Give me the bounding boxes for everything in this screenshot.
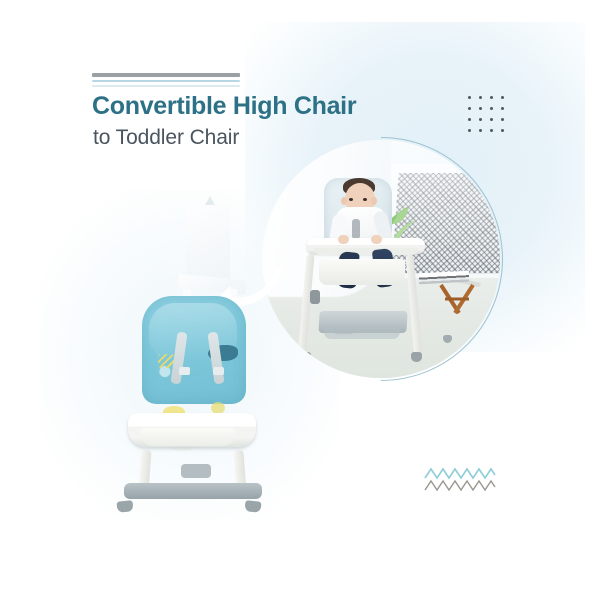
- page-subtitle: to Toddler Chair: [93, 126, 239, 150]
- grid-dot: [490, 96, 494, 100]
- high-chair-foot-cap: [411, 352, 422, 362]
- upper-zigzag-line: [425, 469, 495, 478]
- grid-dot: [479, 107, 483, 111]
- high-chair-adjust-knob: [310, 290, 320, 304]
- toddler-chair-foot-cap: [245, 500, 262, 513]
- grid-dot: [468, 96, 472, 100]
- harness-clip-right: [213, 367, 224, 375]
- mid-blue-rule: [92, 80, 240, 82]
- dot-grid: [464, 92, 508, 136]
- grid-dot: [479, 129, 483, 133]
- product-banner: Convertible High Chair to Toddler Chair: [0, 0, 600, 600]
- high-chair-lifestyle-photo: [262, 140, 500, 378]
- thick-gray-rule: [92, 73, 240, 77]
- cushion-motif-stripe: [158, 354, 174, 368]
- high-chair-tray-lip: [314, 248, 418, 255]
- high-chair-harness: [352, 219, 360, 239]
- harness-clip-left: [179, 367, 190, 375]
- zigzag-pattern: [424, 466, 496, 496]
- toddler-chair-product: [110, 292, 288, 512]
- grid-dot: [479, 96, 483, 100]
- high-chair-seat-pan: [319, 259, 405, 285]
- grid-dot: [501, 129, 505, 133]
- grid-dot: [501, 96, 505, 100]
- high-chair-footrest-bar: [324, 328, 400, 339]
- grid-dot: [501, 118, 505, 122]
- page-title: Convertible High Chair: [92, 92, 356, 121]
- thin-pale-rule: [92, 85, 240, 87]
- grid-dot: [490, 107, 494, 111]
- toddler-chair-foot-cap: [117, 500, 134, 513]
- toddler-chair-tray-inner: [140, 428, 236, 446]
- toddler-chair-base-stem: [181, 464, 211, 478]
- high-chair-foot-cap: [300, 352, 311, 362]
- decorative-rules: [92, 73, 240, 87]
- grid-dot: [490, 129, 494, 133]
- grid-dot: [501, 107, 505, 111]
- child-hand-left: [338, 235, 349, 244]
- grid-dot: [468, 129, 472, 133]
- grid-dot: [490, 118, 494, 122]
- grid-dot: [479, 118, 483, 122]
- grid-dot: [468, 107, 472, 111]
- toddler-chair-base: [124, 483, 262, 499]
- grid-dot: [468, 118, 472, 122]
- lower-zigzag-line: [425, 481, 495, 490]
